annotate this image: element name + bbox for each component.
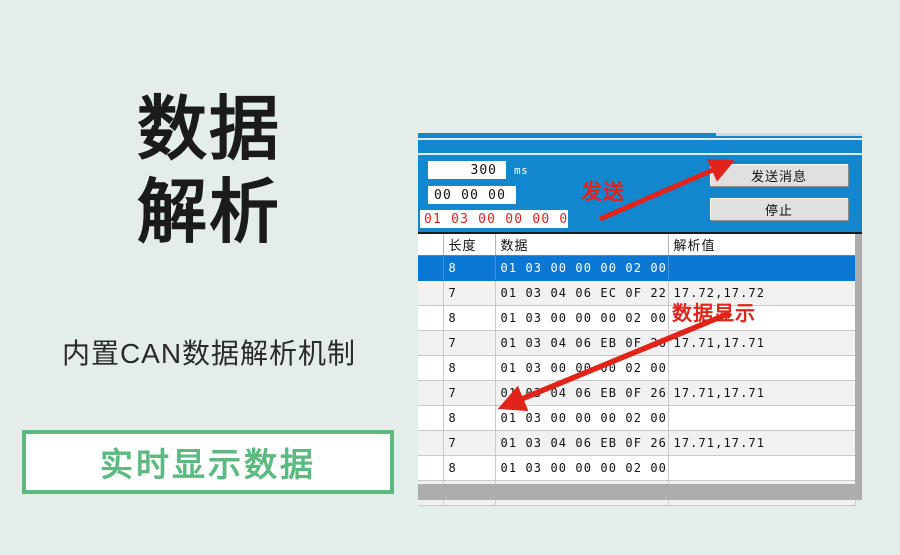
vertical-scrollbar[interactable]: [855, 234, 862, 484]
can-id-input[interactable]: 00 00 00 01: [428, 186, 516, 204]
row-marker: [418, 281, 443, 306]
row-length: 7: [443, 331, 495, 356]
controls-divider: [418, 153, 862, 155]
row-parsed-value: 17.71,17.71: [668, 331, 855, 356]
row-length: 8: [443, 256, 495, 281]
row-parsed-value: 17.71,17.71: [668, 381, 855, 406]
send-controls-panel: 300 ms 00 00 00 01 01 03 00 00 00 02 00 …: [418, 140, 862, 232]
table-row[interactable]: 801 03 00 00 00 02 00 00: [418, 456, 855, 481]
row-length: 7: [443, 431, 495, 456]
row-data: 01 03 04 06 EB 0F 26: [495, 331, 668, 356]
interval-input[interactable]: 300: [428, 161, 506, 179]
column-header-length[interactable]: 长度: [443, 234, 495, 256]
row-marker: [418, 381, 443, 406]
table-row[interactable]: 701 03 04 06 EC 0F 2217.72,17.72: [418, 281, 855, 306]
row-marker: [418, 331, 443, 356]
table-row[interactable]: 701 03 04 06 EB 0F 2617.71,17.71: [418, 431, 855, 456]
row-parsed-value: 17.71,17.71: [668, 431, 855, 456]
row-length: 8: [443, 456, 495, 481]
horizontal-scrollbar[interactable]: [418, 484, 862, 500]
annotation-send-label: 发送: [581, 176, 625, 206]
row-data: 01 03 00 00 00 02 00 00: [495, 306, 668, 331]
row-length: 8: [443, 356, 495, 381]
table-row[interactable]: 801 03 00 00 00 02 00 00: [418, 256, 855, 281]
row-length: 8: [443, 306, 495, 331]
can-tool-window: 300 ms 00 00 00 01 01 03 00 00 00 02 00 …: [418, 133, 862, 500]
row-marker: [418, 306, 443, 331]
row-data: 01 03 00 00 00 02 00 00: [495, 406, 668, 431]
page-title: 数据 解析: [0, 88, 418, 254]
interval-unit-label: ms: [514, 164, 528, 177]
table-row[interactable]: 801 03 00 00 00 02 00 00: [418, 406, 855, 431]
page-subtitle: 内置CAN数据解析机制: [0, 337, 418, 371]
row-length: 7: [443, 381, 495, 406]
table-header-row: 长度 数据 解析值: [418, 234, 855, 256]
table-row[interactable]: 701 03 04 06 EB 0F 2617.71,17.71: [418, 381, 855, 406]
row-length: 8: [443, 406, 495, 431]
send-message-button[interactable]: 发送消息: [710, 164, 848, 186]
row-parsed-value: [668, 306, 855, 331]
feature-badge: 实时显示数据: [22, 430, 394, 494]
row-data: 01 03 00 00 00 02 00 00: [495, 356, 668, 381]
row-parsed-value: [668, 256, 855, 281]
row-parsed-value: [668, 356, 855, 381]
row-data: 01 03 04 06 EB 0F 26: [495, 381, 668, 406]
stop-button[interactable]: 停止: [710, 198, 848, 220]
row-parsed-value: 17.72,17.72: [668, 281, 855, 306]
row-marker: [418, 406, 443, 431]
table-row[interactable]: 801 03 00 00 00 02 00 00: [418, 306, 855, 331]
can-payload-input[interactable]: 01 03 00 00 00 02 00 00: [420, 210, 568, 228]
column-header-parsed[interactable]: 解析值: [668, 234, 855, 256]
row-parsed-value: [668, 406, 855, 431]
column-header-marker[interactable]: [418, 234, 443, 256]
row-data: 01 03 04 06 EB 0F 26: [495, 431, 668, 456]
table-row[interactable]: 801 03 00 00 00 02 00 00: [418, 356, 855, 381]
row-data: 01 03 00 00 00 02 00 00: [495, 256, 668, 281]
row-marker: [418, 456, 443, 481]
message-table: 长度 数据 解析值 801 03 00 00 00 02 00 00701 03…: [418, 234, 856, 506]
row-data: 01 03 04 06 EC 0F 22: [495, 281, 668, 306]
row-parsed-value: [668, 456, 855, 481]
row-marker: [418, 356, 443, 381]
row-marker: [418, 431, 443, 456]
column-header-data[interactable]: 数据: [495, 234, 668, 256]
page-title-line-1: 数据: [0, 88, 418, 171]
message-table-body: 801 03 00 00 00 02 00 00701 03 04 06 EC …: [418, 256, 855, 506]
window-tab-stub: [716, 133, 862, 136]
row-marker: [418, 256, 443, 281]
row-data: 01 03 00 00 00 02 00 00: [495, 456, 668, 481]
feature-badge-label: 实时显示数据: [100, 438, 316, 486]
message-list-container: 长度 数据 解析值 801 03 00 00 00 02 00 00701 03…: [418, 232, 862, 500]
table-row[interactable]: 701 03 04 06 EB 0F 2617.71,17.71: [418, 331, 855, 356]
promo-panel: 数据 解析 内置CAN数据解析机制 实时显示数据: [0, 0, 418, 550]
row-length: 7: [443, 281, 495, 306]
page-title-line-2: 解析: [0, 171, 418, 254]
